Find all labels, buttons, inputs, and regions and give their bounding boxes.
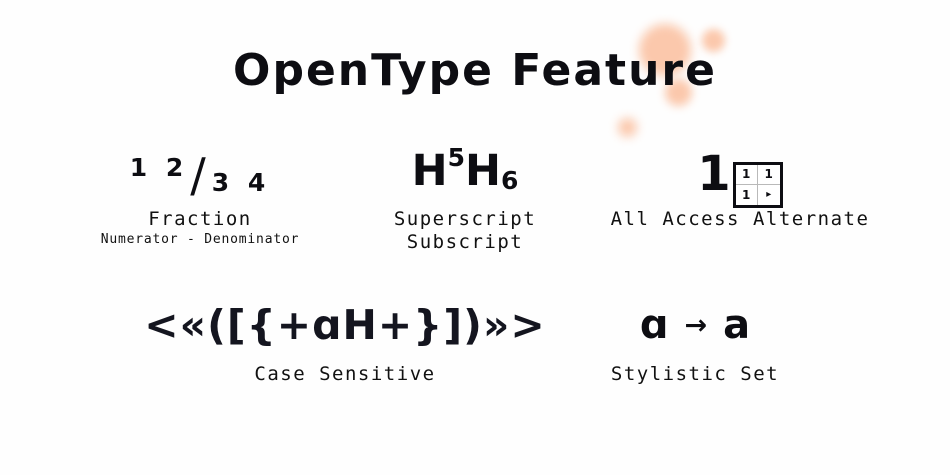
alternate-option-1: 1	[736, 165, 758, 185]
fraction-sublabel: Numerator - Denominator	[101, 232, 299, 247]
feature-all-access-alternate: 1 1 1 1 ▸ All Access Alternate	[580, 150, 900, 230]
feature-fraction: 1 2 / 3 4 Fraction Numerator - Denominat…	[50, 150, 350, 247]
supsub-subscript: 6	[501, 168, 518, 193]
supsub-base-first: H	[412, 150, 448, 193]
fraction-slash: /	[188, 152, 208, 198]
supsub-superscript: 5	[448, 145, 465, 170]
feature-row-bottom: <«([{+ɑH+}])»> Case Sensitive ɑ → a Styl…	[0, 305, 950, 385]
feature-case-sensitive: <«([{+ɑH+}])»> Case Sensitive	[125, 305, 565, 385]
stylistic-glyph-after: a	[723, 305, 750, 345]
alternate-option-3: 1	[736, 185, 758, 205]
fraction-numerator: 1 2	[130, 155, 189, 180]
stylistic-set-sample: ɑ → a	[640, 305, 750, 357]
alternates-glyph-picker: 1 1 1 ▸	[733, 162, 783, 208]
case-sensitive-sample: <«([{+ɑH+}])»>	[144, 305, 545, 357]
alternate-more-arrow-icon: ▸	[758, 185, 780, 205]
supsub-label: Superscript	[394, 208, 536, 230]
alternates-base-glyph: 1	[697, 150, 730, 198]
feature-superscript-subscript: H 5 H 6 Superscript Subscript	[350, 150, 580, 253]
fraction-label: Fraction	[148, 208, 252, 230]
fraction-denominator: 3 4	[208, 170, 271, 195]
arrow-right-icon: →	[669, 312, 724, 339]
stylistic-set-label: Stylistic Set	[611, 363, 779, 385]
alternates-label: All Access Alternate	[611, 208, 870, 230]
feature-row-top: 1 2 / 3 4 Fraction Numerator - Denominat…	[0, 150, 950, 253]
stylistic-glyph-before: ɑ	[640, 305, 669, 345]
alternates-sample: 1 1 1 1 ▸	[697, 150, 782, 202]
poster-canvas: OpenType Feature 1 2 / 3 4 Fraction Nume…	[0, 0, 950, 475]
case-sensitive-label: Case Sensitive	[254, 363, 435, 385]
feature-stylistic-set: ɑ → a Stylistic Set	[565, 305, 825, 385]
supsub-sublabel: Subscript	[407, 231, 523, 253]
page-title: OpenType Feature	[0, 45, 950, 96]
supsub-base-second: H	[465, 150, 501, 193]
decor-circle-tiny	[618, 118, 637, 137]
alternate-option-2: 1	[758, 165, 780, 185]
fraction-sample: 1 2 / 3 4	[130, 150, 271, 202]
supsub-sample: H 5 H 6	[412, 150, 519, 202]
